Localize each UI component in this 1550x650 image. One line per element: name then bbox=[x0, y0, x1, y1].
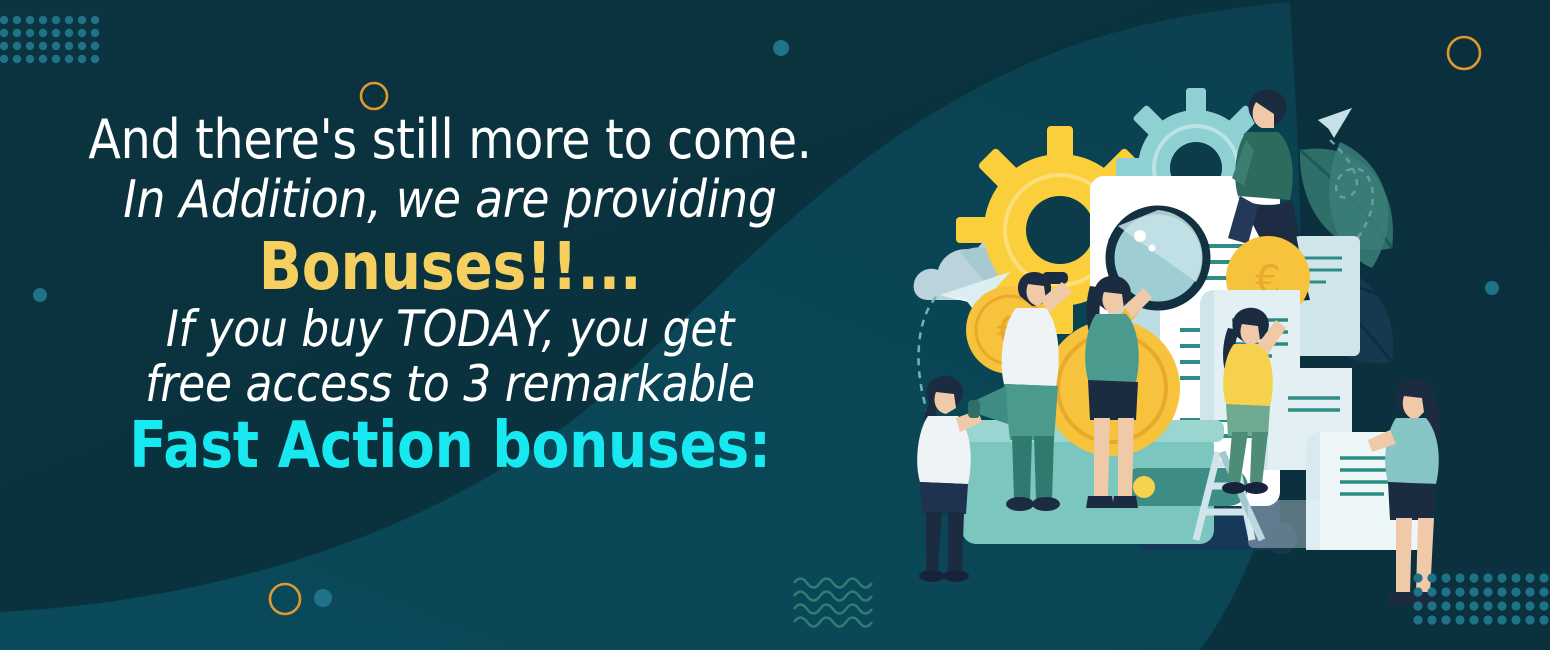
grid-dot bbox=[26, 55, 34, 63]
grid-dot bbox=[0, 42, 8, 50]
grid-dot bbox=[1441, 587, 1450, 596]
grid-dot bbox=[91, 55, 99, 63]
grid-dot bbox=[1441, 615, 1450, 624]
grid-dot bbox=[78, 29, 86, 37]
grid-dot bbox=[1483, 573, 1492, 582]
grid-dot bbox=[0, 55, 8, 63]
grid-dot bbox=[1539, 573, 1548, 582]
grid-dot bbox=[26, 42, 34, 50]
dot-right-mid bbox=[1485, 281, 1499, 295]
grid-dot bbox=[78, 42, 86, 50]
grid-dot bbox=[13, 55, 21, 63]
grid-dot bbox=[65, 42, 73, 50]
wave-decoration bbox=[794, 579, 872, 627]
grid-dot bbox=[1483, 601, 1492, 610]
grid-dot bbox=[91, 16, 99, 24]
grid-dot bbox=[1525, 573, 1534, 582]
grid-dot bbox=[52, 16, 60, 24]
grid-dot bbox=[26, 29, 34, 37]
grid-dot bbox=[1469, 615, 1478, 624]
dot-grid-top-left bbox=[0, 16, 99, 63]
headline-line-4: If you buy TODAY, you get bbox=[54, 304, 846, 355]
grid-dot bbox=[52, 55, 60, 63]
grid-dot bbox=[1511, 601, 1520, 610]
grid-dot bbox=[1441, 601, 1450, 610]
grid-dot bbox=[52, 42, 60, 50]
grid-dot bbox=[39, 55, 47, 63]
headline-line-2: In Addition, we are providing bbox=[54, 174, 846, 227]
grid-dot bbox=[91, 29, 99, 37]
grid-dot bbox=[1511, 587, 1520, 596]
grid-dot bbox=[1469, 573, 1478, 582]
grid-dot bbox=[65, 55, 73, 63]
wave-line bbox=[794, 592, 872, 601]
grid-dot bbox=[65, 16, 73, 24]
grid-dot bbox=[1539, 587, 1548, 596]
grid-dot bbox=[1539, 601, 1548, 610]
headline-fast-action-emphasis: Fast Action bonuses: bbox=[63, 414, 837, 479]
grid-dot bbox=[0, 16, 8, 24]
grid-dot bbox=[1413, 587, 1422, 596]
grid-dot bbox=[1413, 615, 1422, 624]
grid-dot bbox=[1441, 573, 1450, 582]
grid-dot bbox=[26, 16, 34, 24]
grid-dot bbox=[39, 42, 47, 50]
grid-dot bbox=[1427, 587, 1436, 596]
promotional-banner: € € € bbox=[0, 0, 1550, 650]
grid-dot bbox=[1427, 615, 1436, 624]
wave-line bbox=[794, 618, 872, 627]
grid-dot bbox=[1483, 615, 1492, 624]
grid-dot bbox=[1525, 587, 1534, 596]
grid-dot bbox=[13, 16, 21, 24]
grid-dot bbox=[1427, 601, 1436, 610]
headline-bonuses-emphasis: Bonuses!!... bbox=[63, 233, 837, 300]
grid-dot bbox=[1455, 615, 1464, 624]
wave-line bbox=[794, 579, 872, 588]
grid-dot bbox=[13, 42, 21, 50]
dot-top-center bbox=[773, 40, 789, 56]
headline-line-5: free access to 3 remarkable bbox=[54, 359, 846, 410]
grid-dot bbox=[0, 29, 8, 37]
grid-dot bbox=[65, 29, 73, 37]
grid-dot bbox=[1497, 615, 1506, 624]
grid-dot bbox=[1525, 601, 1534, 610]
grid-dot bbox=[39, 16, 47, 24]
grid-dot bbox=[1427, 573, 1436, 582]
wave-line bbox=[794, 605, 872, 614]
grid-dot bbox=[1497, 587, 1506, 596]
grid-dot bbox=[1455, 587, 1464, 596]
ring-top-left bbox=[361, 83, 387, 109]
grid-dot bbox=[1511, 573, 1520, 582]
grid-dot bbox=[91, 42, 99, 50]
grid-dot bbox=[1483, 587, 1492, 596]
grid-dot bbox=[1511, 615, 1520, 624]
grid-dot bbox=[78, 16, 86, 24]
grid-dot bbox=[52, 29, 60, 37]
ring-bottom-left bbox=[270, 584, 300, 614]
grid-dot bbox=[1497, 573, 1506, 582]
dot-grid-bottom-right bbox=[1413, 573, 1548, 624]
dot-bottom-left bbox=[314, 589, 332, 607]
headline-block: And there's still more to come. In Addit… bbox=[0, 112, 900, 480]
grid-dot bbox=[1469, 601, 1478, 610]
grid-dot bbox=[1525, 615, 1534, 624]
grid-dot bbox=[1455, 601, 1464, 610]
ring-top-right bbox=[1448, 37, 1480, 69]
headline-line-1: And there's still more to come. bbox=[54, 112, 846, 167]
grid-dot bbox=[39, 29, 47, 37]
grid-dot bbox=[1497, 601, 1506, 610]
grid-dot bbox=[1413, 601, 1422, 610]
grid-dot bbox=[13, 29, 21, 37]
grid-dot bbox=[1469, 587, 1478, 596]
grid-dot bbox=[78, 55, 86, 63]
grid-dot bbox=[1413, 573, 1422, 582]
grid-dot bbox=[1455, 573, 1464, 582]
grid-dot bbox=[1539, 615, 1548, 624]
